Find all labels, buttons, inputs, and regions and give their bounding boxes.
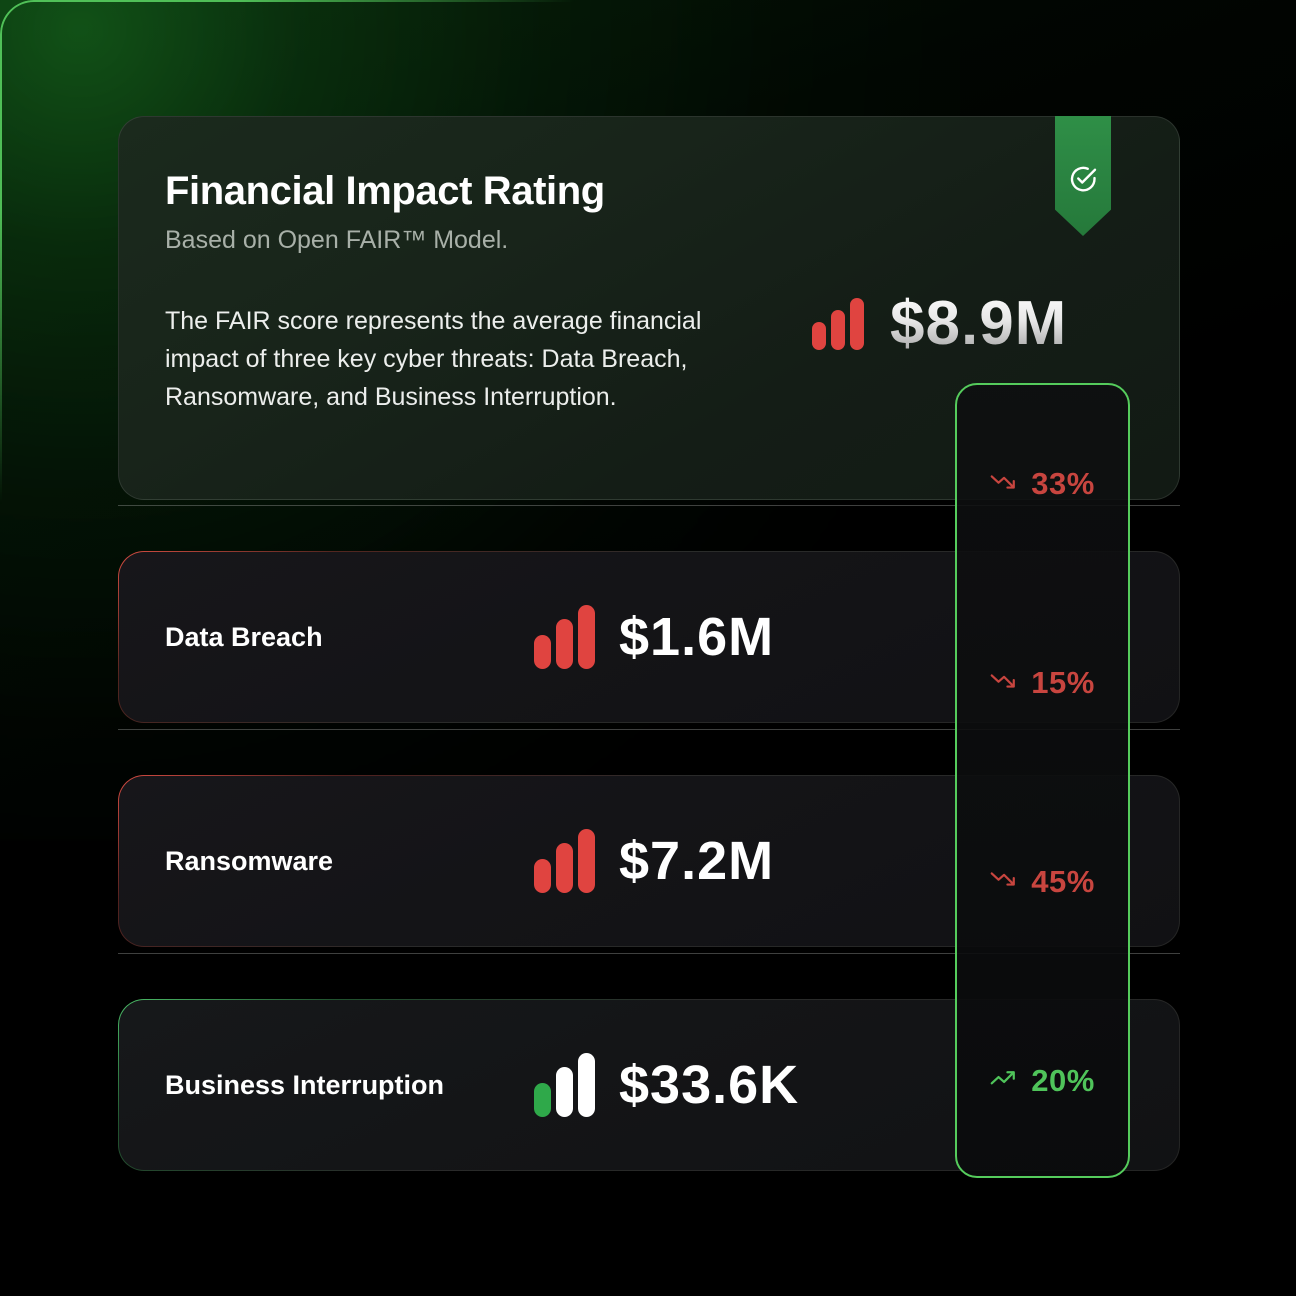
trend-cell-business-interruption: 20%	[957, 981, 1128, 1178]
trend-cell-ransomware: 45%	[957, 783, 1128, 982]
bar-1	[812, 322, 826, 350]
page-subtitle: Based on Open FAIR™ Model.	[165, 226, 508, 255]
trend-value: 20%	[1031, 1063, 1095, 1099]
description-text: The FAIR score represents the average fi…	[165, 302, 710, 416]
threat-row-value: $1.6M	[619, 606, 774, 668]
bar-chart-icon	[534, 605, 595, 669]
trend-cell-data-breach: 15%	[957, 584, 1128, 783]
trending-down-icon	[990, 868, 1020, 895]
threat-row-metric: $7.2M	[534, 829, 774, 893]
trending-up-icon	[990, 1067, 1020, 1094]
bar-1	[534, 1083, 551, 1117]
trend-value: 45%	[1031, 864, 1095, 900]
bar-2	[556, 843, 573, 893]
bar-chart-icon	[534, 829, 595, 893]
threat-row-metric: $1.6M	[534, 605, 774, 669]
bar-chart-icon	[812, 298, 864, 350]
threat-row-value: $33.6K	[619, 1054, 799, 1116]
bar-3	[850, 298, 864, 350]
bar-chart-icon	[534, 1053, 595, 1117]
threat-row-label: Business Interruption	[165, 1063, 495, 1107]
threat-row-label: Data Breach	[165, 615, 495, 659]
trending-down-icon	[990, 471, 1020, 498]
trend-overlay-panel[interactable]: 33% 15% 45%	[955, 383, 1130, 1178]
check-circle-icon	[1068, 164, 1098, 194]
bar-3	[578, 605, 595, 669]
bar-2	[556, 1067, 573, 1117]
trend-value: 15%	[1031, 665, 1095, 701]
threat-row-metric: $33.6K	[534, 1053, 799, 1117]
trend-cell-total: 33%	[957, 385, 1128, 584]
bar-3	[578, 829, 595, 893]
total-impact-metric: $8.9M	[812, 288, 1067, 359]
bar-2	[831, 310, 845, 350]
trend-value: 33%	[1031, 466, 1095, 502]
bar-1	[534, 859, 551, 893]
page-root: Financial Impact Rating Based on Open FA…	[0, 0, 1296, 1296]
page-title: Financial Impact Rating	[165, 169, 605, 214]
threat-row-label: Ransomware	[165, 839, 495, 883]
bar-2	[556, 619, 573, 669]
bar-3	[578, 1053, 595, 1117]
total-impact-value: $8.9M	[890, 288, 1067, 359]
threat-row-value: $7.2M	[619, 830, 774, 892]
bar-1	[534, 635, 551, 669]
trending-down-icon	[990, 670, 1020, 697]
